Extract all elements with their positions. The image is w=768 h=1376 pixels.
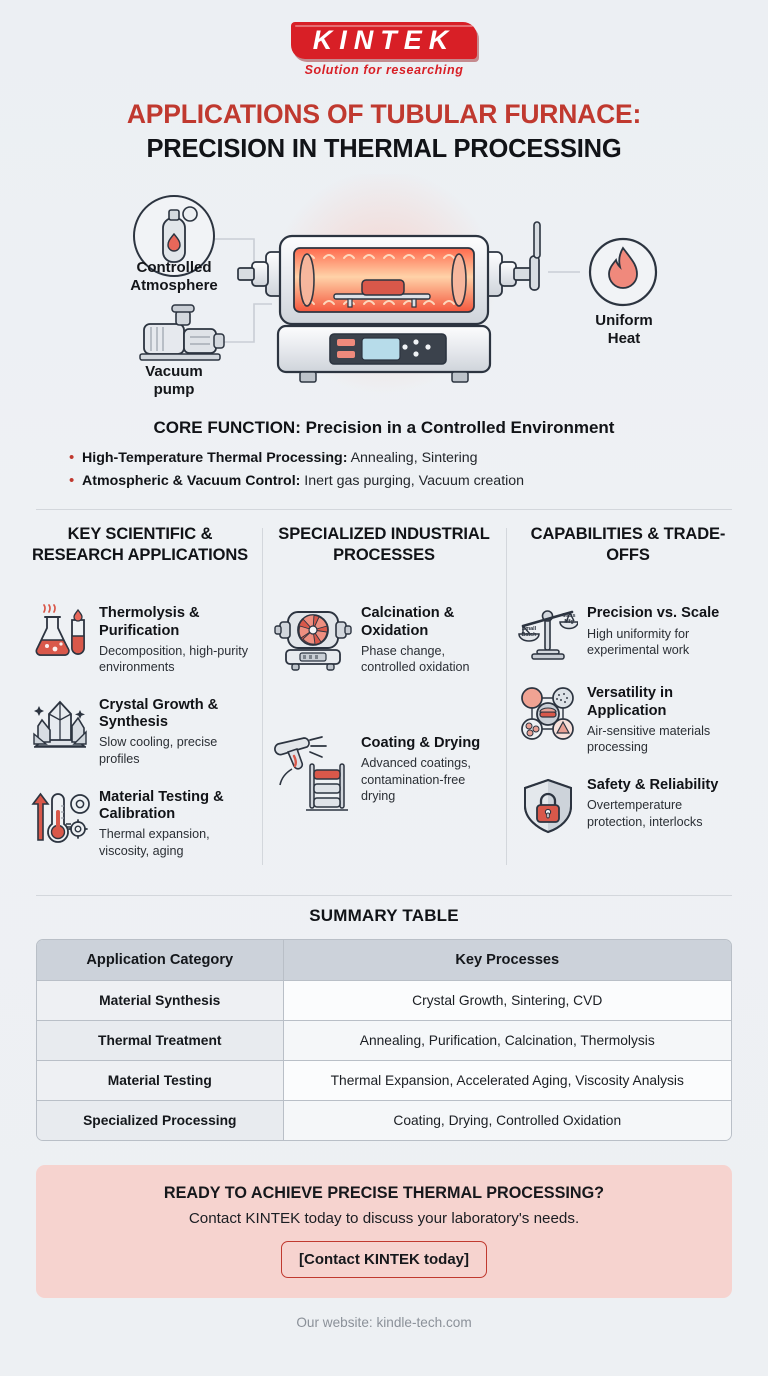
cta-banner: READY TO ACHIEVE PRECISE THERMAL PROCESS…	[36, 1165, 732, 1298]
balance-scale-icon: Small Batch Mass Mfg	[518, 604, 578, 664]
column-specialized-industrial: SPECIALIZED INDUSTRIAL PROCESSES	[262, 524, 506, 879]
table-row: Specialized Processing Coating, Drying, …	[37, 1101, 731, 1141]
footer-website: Our website: kindle-tech.com	[0, 1315, 768, 1330]
table-cell-category: Specialized Processing	[37, 1101, 283, 1141]
cta-subheading: Contact KINTEK today to discuss your lab…	[46, 1210, 722, 1227]
hero-label-uniform-heat: Uniform Heat	[566, 312, 682, 347]
table-cell-category: Material Synthesis	[37, 981, 283, 1021]
summary-table: Application Category Key Processes Mater…	[37, 940, 731, 1140]
core-bullet-1: High-Temperature Thermal Processing: Ann…	[82, 447, 704, 470]
hero-label-heat-line2: Heat	[608, 330, 641, 347]
list-item: Thermolysis & Purification Decomposition…	[30, 604, 250, 676]
item-desc: High uniformity for experimental work	[587, 626, 738, 659]
item-desc: Phase change, controlled oxidation	[361, 643, 494, 676]
crystal-icon	[30, 696, 90, 756]
divider-above-columns	[36, 509, 732, 510]
table-header-row: Application Category Key Processes	[37, 940, 731, 981]
table-row: Material Synthesis Crystal Growth, Sinte…	[37, 981, 731, 1021]
core-function-heading: CORE FUNCTION: Precision in a Controlled…	[64, 418, 704, 438]
list-item: Versatility in Application Air-sensitive…	[518, 684, 738, 756]
thermometer-gears-icon	[30, 788, 90, 848]
hero-label-heat-line1: Uniform	[595, 312, 653, 329]
list-item: Coating & Drying Advanced coatings, cont…	[274, 734, 494, 805]
item-title: Calcination & Oxidation	[361, 605, 494, 639]
column-2-heading: SPECIALIZED INDUSTRIAL PROCESSES	[274, 524, 494, 586]
table-cell-category: Thermal Treatment	[37, 1021, 283, 1061]
item-title: Versatility in Application	[587, 685, 738, 719]
hero-label-vac-line2: pump	[154, 381, 195, 398]
table-row: Thermal Treatment Annealing, Purificatio…	[37, 1021, 731, 1061]
core-bullet-2: Atmospheric & Vacuum Control: Inert gas …	[82, 470, 704, 493]
flame-icon	[590, 239, 656, 305]
item-title: Precision vs. Scale	[587, 605, 738, 622]
spray-gun-drying-rack-icon	[274, 734, 352, 804]
item-desc: Decomposition, high-purity environments	[99, 643, 250, 676]
item-title: Thermolysis & Purification	[99, 605, 250, 639]
summary-table-body: Material Synthesis Crystal Growth, Sinte…	[37, 981, 731, 1141]
list-item: Material Testing & Calibration Thermal e…	[30, 788, 250, 860]
column-1-heading: KEY SCIENTIFIC & RESEARCH APPLICATIONS	[30, 524, 250, 586]
list-item: Calcination & Oxidation Phase change, co…	[274, 604, 494, 676]
table-col-header-category: Application Category	[37, 940, 283, 981]
core-bullet-1-label: High-Temperature Thermal Processing:	[82, 450, 347, 466]
shield-lock-icon	[518, 776, 578, 836]
hero-label-vacuum-pump: Vacuum pump	[112, 363, 236, 398]
core-bullet-2-value: Inert gas purging, Vacuum creation	[300, 473, 524, 489]
core-bullet-1-value: Annealing, Sintering	[347, 450, 477, 466]
table-cell-processes: Thermal Expansion, Accelerated Aging, Vi…	[283, 1061, 731, 1101]
item-desc: Advanced coatings, contamination-free dr…	[361, 755, 494, 805]
hero-label-controlled-atmosphere: Controlled Atmosphere	[108, 259, 240, 294]
list-item: Small Batch Mass Mfg Precision vs. Scale…	[518, 604, 738, 664]
contact-kintek-button[interactable]: [Contact KINTEK today]	[281, 1241, 487, 1278]
item-title: Safety & Reliability	[587, 777, 738, 794]
rotary-furnace-icon	[274, 604, 352, 674]
summary-table-heading: SUMMARY TABLE	[0, 906, 768, 926]
hero-label-atmos-line1: Controlled	[137, 259, 212, 276]
item-title: Coating & Drying	[361, 735, 494, 752]
vacuum-pump-icon	[140, 305, 224, 360]
item-desc: Slow cooling, precise profiles	[99, 734, 250, 767]
column-2-items: Calcination & Oxidation Phase change, co…	[274, 604, 494, 805]
column-capabilities-tradeoffs: CAPABILITIES & TRADE-OFFS Small	[506, 524, 750, 879]
item-title: Crystal Growth & Synthesis	[99, 697, 250, 731]
table-cell-category: Material Testing	[37, 1061, 283, 1101]
item-desc: Thermal expansion, viscosity, aging	[99, 826, 250, 859]
core-function-list: High-Temperature Thermal Processing: Ann…	[64, 447, 704, 493]
column-3-heading: CAPABILITIES & TRADE-OFFS	[518, 524, 738, 586]
column-key-scientific: KEY SCIENTIFIC & RESEARCH APPLICATIONS	[18, 524, 262, 879]
scale-left-label-line2: Batch	[522, 632, 537, 638]
logo-tagline: Solution for researching	[305, 63, 464, 77]
column-1-items: Thermolysis & Purification Decomposition…	[30, 604, 250, 859]
scale-right-label-line2: Mfg	[564, 619, 573, 625]
hero-illustration: Controlled Atmosphere Vacuum pump Unifor…	[0, 174, 768, 412]
item-desc: Air-sensitive materials processing	[587, 723, 738, 756]
table-cell-processes: Crystal Growth, Sintering, CVD	[283, 981, 731, 1021]
core-function-section: CORE FUNCTION: Precision in a Controlled…	[0, 418, 768, 493]
summary-table-head: Application Category Key Processes	[37, 940, 731, 981]
hero-label-vac-line1: Vacuum	[145, 363, 203, 380]
table-row: Material Testing Thermal Expansion, Acce…	[37, 1061, 731, 1101]
brand-logo: KINTEK Solution for researching	[0, 0, 768, 77]
cta-heading: READY TO ACHIEVE PRECISE THERMAL PROCESS…	[46, 1184, 722, 1203]
page-title-line2: PRECISION IN THERMAL PROCESSING	[0, 135, 768, 164]
three-column-section: KEY SCIENTIFIC & RESEARCH APPLICATIONS	[0, 524, 768, 879]
materials-network-icon	[518, 684, 578, 744]
divider-below-columns	[36, 895, 732, 896]
hero-label-atmos-line2: Atmosphere	[130, 277, 218, 294]
logo-wordmark: KINTEK	[291, 22, 478, 59]
list-item: Crystal Growth & Synthesis Slow cooling,…	[30, 696, 250, 768]
core-bullet-2-label: Atmospheric & Vacuum Control:	[82, 473, 300, 489]
item-title: Material Testing & Calibration	[99, 789, 250, 823]
table-cell-processes: Annealing, Purification, Calcination, Th…	[283, 1021, 731, 1061]
column-3-items: Small Batch Mass Mfg Precision vs. Scale…	[518, 604, 738, 836]
page-title-line1: APPLICATIONS OF TUBULAR FURNACE:	[0, 99, 768, 130]
item-desc: Overtemperature protection, interlocks	[587, 797, 738, 830]
table-cell-processes: Coating, Drying, Controlled Oxidation	[283, 1101, 731, 1141]
summary-table-wrapper: Application Category Key Processes Mater…	[36, 939, 732, 1141]
table-col-header-processes: Key Processes	[283, 940, 731, 981]
tube-furnace-illustration	[238, 222, 540, 382]
list-item: Safety & Reliability Overtemperature pro…	[518, 776, 738, 836]
flask-test-tube-icon	[30, 604, 90, 664]
